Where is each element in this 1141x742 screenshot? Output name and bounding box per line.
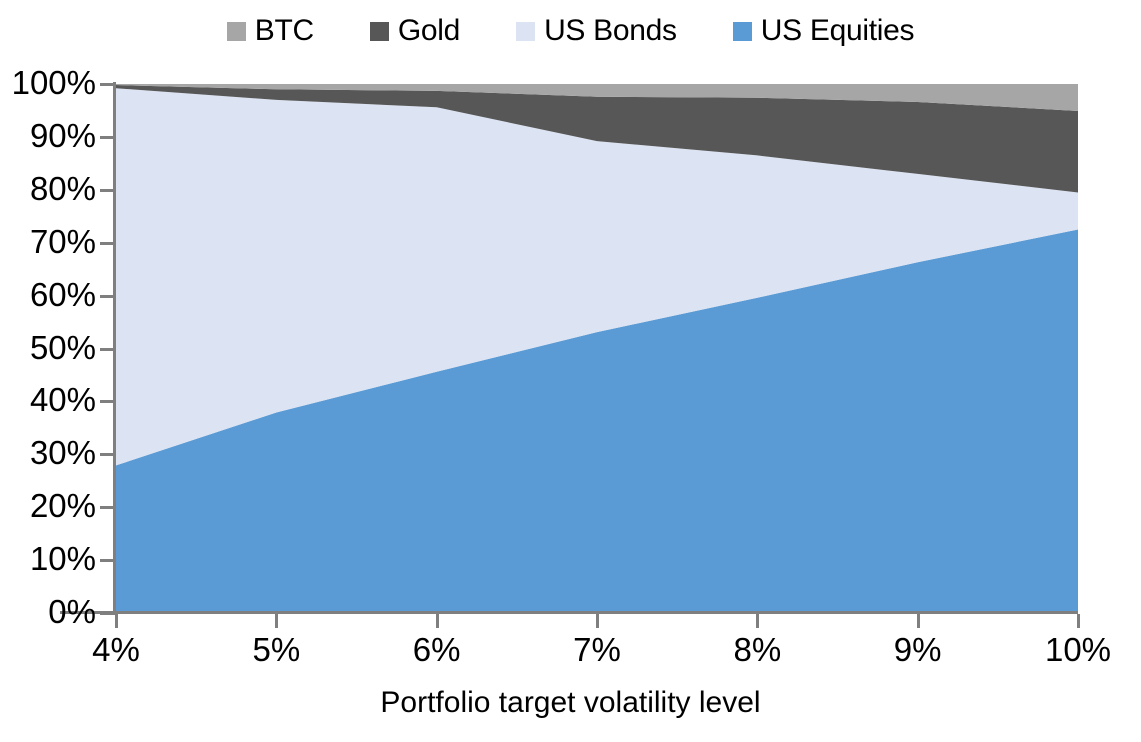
y-axis-tick bbox=[100, 83, 114, 86]
y-axis-tick bbox=[100, 348, 114, 351]
x-axis-tick bbox=[436, 614, 439, 628]
y-axis-tick-label: 100% bbox=[0, 66, 96, 99]
legend-swatch-us-bonds bbox=[516, 22, 535, 41]
y-axis-tick bbox=[100, 136, 114, 139]
y-axis-tick bbox=[100, 453, 114, 456]
x-axis-line bbox=[60, 611, 1078, 614]
legend-item-us-equities[interactable]: US Equities bbox=[733, 16, 914, 46]
legend-item-btc[interactable]: BTC bbox=[227, 16, 314, 46]
y-axis-tick-label: 10% bbox=[0, 542, 96, 575]
x-axis-tick-label: 4% bbox=[56, 632, 176, 668]
y-axis-tick-label: 20% bbox=[0, 489, 96, 522]
legend-swatch-us-equities bbox=[733, 22, 752, 41]
y-axis-tick-label: 0% bbox=[0, 595, 96, 628]
y-axis-tick-label: 90% bbox=[0, 119, 96, 152]
y-axis-tick bbox=[100, 189, 114, 192]
y-axis-tick bbox=[100, 506, 114, 509]
x-axis-tick-label: 9% bbox=[858, 632, 978, 668]
x-axis-tick bbox=[1077, 614, 1080, 628]
legend-swatch-gold bbox=[370, 22, 389, 41]
x-axis-tick-label: 5% bbox=[216, 632, 336, 668]
legend-item-us-bonds[interactable]: US Bonds bbox=[516, 16, 677, 46]
x-axis-tick bbox=[115, 614, 118, 628]
y-axis-tick bbox=[100, 612, 114, 615]
y-axis-tick-label: 60% bbox=[0, 278, 96, 311]
legend-swatch-btc bbox=[227, 22, 246, 41]
legend-label-gold: Gold bbox=[398, 16, 460, 46]
x-axis-tick-label: 10% bbox=[1018, 632, 1138, 668]
x-axis-tick-label: 7% bbox=[537, 632, 657, 668]
y-axis-tick bbox=[100, 400, 114, 403]
x-axis-title: Portfolio target volatility level bbox=[0, 686, 1141, 720]
plot-area bbox=[116, 84, 1078, 613]
y-axis-tick bbox=[100, 295, 114, 298]
y-axis-tick-label: 50% bbox=[0, 331, 96, 364]
y-axis-tick-label: 70% bbox=[0, 225, 96, 258]
legend-label-us-bonds: US Bonds bbox=[544, 16, 677, 46]
x-axis-tick-label: 6% bbox=[377, 632, 497, 668]
y-axis-tick-label: 80% bbox=[0, 172, 96, 205]
y-axis-tick bbox=[100, 242, 114, 245]
chart-container: BTC Gold US Bonds US Equities 100%90%80%… bbox=[0, 0, 1141, 742]
y-axis-tick bbox=[100, 559, 114, 562]
x-axis-tick bbox=[596, 614, 599, 628]
legend-label-us-equities: US Equities bbox=[761, 16, 914, 46]
legend-item-gold[interactable]: Gold bbox=[370, 16, 460, 46]
x-axis-tick-label: 8% bbox=[697, 632, 817, 668]
y-axis-tick-label: 40% bbox=[0, 383, 96, 416]
y-axis-tick-label: 30% bbox=[0, 436, 96, 469]
legend-label-btc: BTC bbox=[255, 16, 314, 46]
chart-legend: BTC Gold US Bonds US Equities bbox=[0, 8, 1141, 54]
x-axis-tick bbox=[275, 614, 278, 628]
x-axis-tick bbox=[917, 614, 920, 628]
stacked-area-plot bbox=[116, 84, 1078, 613]
x-axis-tick bbox=[756, 614, 759, 628]
